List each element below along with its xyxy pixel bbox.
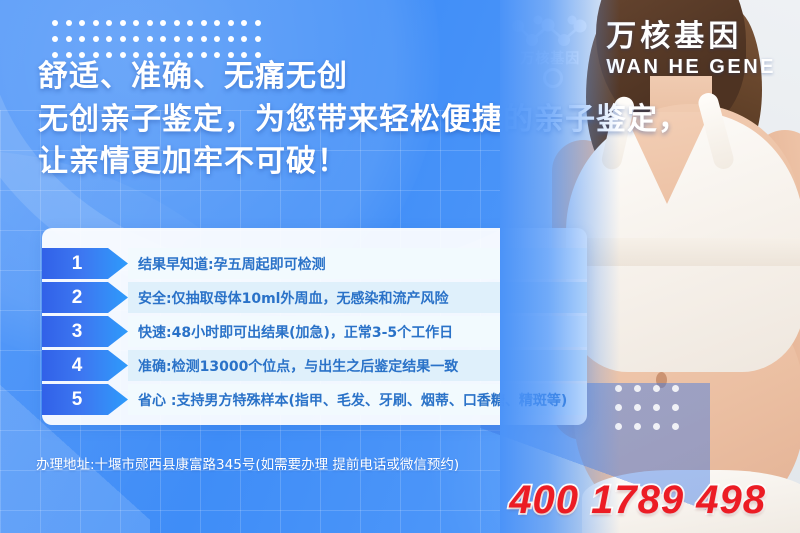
brand-name-cn: 万核基因 [606, 22, 742, 52]
headline-line-1: 舒适、准确、无痛无创 [38, 56, 689, 99]
feature-number: 3 [72, 322, 99, 341]
feature-number-badge: 1 [42, 248, 128, 279]
photo-navel [656, 372, 667, 388]
office-address: 办理地址:十堰市郧西县康富路345号(如需要办理 提前电话或微信预约) [36, 453, 459, 473]
photo-strap-right [696, 91, 736, 172]
feature-number-badge: 4 [42, 350, 128, 381]
feature-text: 快速:48小时即可出结果(加急)，正常3-5个工作日 [138, 322, 453, 342]
headline-block: 舒适、准确、无痛无创 无创亲子鉴定，为您带来轻松便捷的亲子鉴定， 让亲情更加牢不… [38, 56, 689, 184]
headline-line-3: 让亲情更加牢不可破！ [38, 141, 689, 184]
feature-number-badge: 5 [42, 384, 128, 415]
feature-number: 5 [72, 390, 99, 409]
feature-text: 准确:检测13000个位点，与出生之后鉴定结果一致 [138, 356, 458, 376]
decorative-dot-cluster [615, 385, 691, 442]
promotional-banner: 万核基因 万核基因 WAN HE GENE 舒适、准确、无痛无创 无创亲子鉴定，… [0, 0, 800, 533]
feature-row: 3快速:48小时即可出结果(加急)，正常3-5个工作日 [42, 316, 587, 347]
feature-row: 2安全:仅抽取母体10ml外周血，无感染和流产风险 [42, 282, 587, 313]
feature-text: 省心 :支持男方特殊样本(指甲、毛发、牙刷、烟蒂、口香糖、精斑等) [138, 390, 567, 410]
feature-text: 结果早知道:孕五周起即可检测 [138, 254, 326, 274]
feature-number-badge: 3 [42, 316, 128, 347]
photo-top-band [570, 238, 800, 266]
feature-row: 4准确:检测13000个位点，与出生之后鉴定结果一致 [42, 350, 587, 381]
feature-text: 安全:仅抽取母体10ml外周血，无感染和流产风险 [138, 288, 448, 308]
feature-row: 5省心 :支持男方特殊样本(指甲、毛发、牙刷、烟蒂、口香糖、精斑等) [42, 384, 587, 415]
feature-number-badge: 2 [42, 282, 128, 313]
feature-rows: 1结果早知道:孕五周起即可检测2安全:仅抽取母体10ml外周血，无感染和流产风险… [42, 248, 587, 418]
feature-list-panel: 1结果早知道:孕五周起即可检测2安全:仅抽取母体10ml外周血，无感染和流产风险… [42, 228, 587, 425]
feature-row: 1结果早知道:孕五周起即可检测 [42, 248, 587, 279]
headline-line-2: 无创亲子鉴定，为您带来轻松便捷的亲子鉴定， [38, 99, 689, 142]
feature-number: 2 [72, 288, 99, 307]
feature-number: 4 [72, 356, 99, 375]
hotline-phone-number[interactable]: 400 1789 498 [509, 478, 766, 523]
feature-number: 1 [72, 254, 99, 273]
photo-arm-right [752, 130, 800, 430]
